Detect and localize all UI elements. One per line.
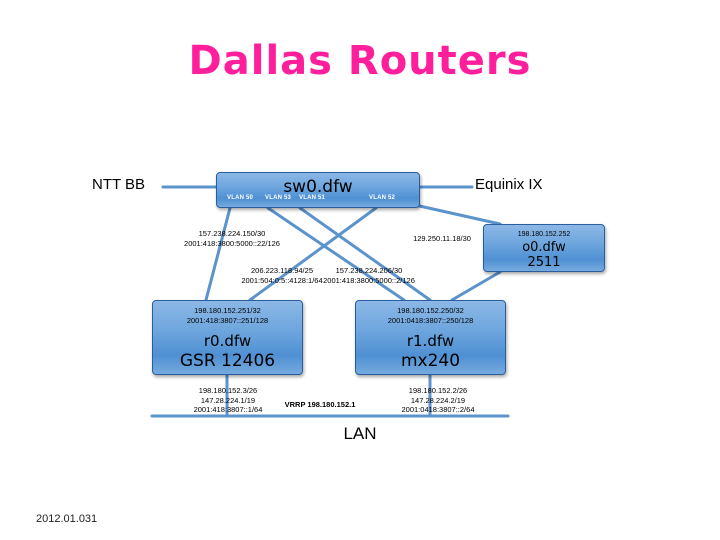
link-vlan50-r0: [206, 208, 230, 300]
vlan-label-51: VLAN 51: [299, 195, 325, 201]
r0-model: GSR 12406: [153, 351, 302, 371]
label-ntt-bb: NTT BB: [92, 176, 145, 193]
ntt-uplink-ipv4: 157.238.224.150/30: [158, 229, 306, 239]
o0-model: 2511: [484, 255, 604, 270]
r1-ipv4: 198.180.152.250/32: [356, 306, 505, 316]
link-sw0-o0: [415, 205, 500, 224]
annotation-vlan53-link: 157.238.224.206/30 2001:418:3800:5000::2…: [312, 266, 426, 285]
sw0-vlan-row: VLAN 50 VLAN 53 VLAN 51 VLAN 52: [217, 195, 419, 206]
lan-right-ipv4-2: 147.28.224.2/19: [368, 396, 508, 406]
slide-footer-date: 2012.01.031: [36, 513, 97, 525]
r1-ipv6: 2001:0418:3807::250/128: [356, 316, 505, 326]
node-o0-dfw[interactable]: 198.180.152.252 o0.dfw 2511: [483, 224, 605, 272]
r0-ipv4: 198.180.152.251/32: [153, 306, 302, 316]
link-vlan53-r1: [268, 208, 404, 300]
vlan53-link-ipv6: 2001:418:3800:5000::2/126: [312, 276, 426, 286]
annotation-ntt-uplink: 157.238.224.150/30 2001:418:3800:5000::2…: [158, 229, 306, 248]
o0-ip: 198.180.152.252: [484, 225, 604, 240]
link-o0-r1: [452, 272, 500, 300]
link-vlan52-r0: [250, 208, 376, 300]
node-r0-dfw[interactable]: 198.180.152.251/32 2001:418:3807::251/12…: [152, 300, 303, 375]
r0-ip-block: 198.180.152.251/32 2001:418:3807::251/12…: [153, 301, 302, 326]
vlan-label-50: VLAN 50: [227, 195, 253, 201]
annotation-lan-right: 198.180.152.2/26 147.28.224.2/19 2001:04…: [368, 386, 508, 415]
node-r1-dfw[interactable]: 198.180.152.250/32 2001:0418:3807::250/1…: [355, 300, 506, 375]
label-lan: LAN: [0, 424, 720, 444]
r1-model: mx240: [356, 351, 505, 371]
link-vlan51-r1: [300, 208, 430, 300]
o0-name: o0.dfw: [484, 240, 604, 255]
r0-ipv6: 2001:418:3807::251/128: [153, 316, 302, 326]
node-sw0-dfw[interactable]: sw0.dfw VLAN 50 VLAN 53 VLAN 51 VLAN 52: [216, 172, 420, 208]
lan-right-ipv6: 2001:0418:3807::2/64: [368, 405, 508, 415]
label-equinix-ix: Equinix IX: [475, 176, 543, 193]
lan-right-ipv4-1: 198.180.152.2/26: [368, 386, 508, 396]
slide-canvas: Dallas Routers NTT B: [0, 0, 720, 540]
r1-name: r1.dfw: [356, 326, 505, 351]
ntt-uplink-ipv6: 2001:418:3800:5000::22/126: [158, 239, 306, 249]
annotation-vrrp: VRRP 198.180.152.1: [258, 400, 382, 410]
r1-ip-block: 198.180.152.250/32 2001:0418:3807::250/1…: [356, 301, 505, 326]
lan-left-ipv4-1: 198.180.152.3/26: [158, 386, 298, 396]
vlan-label-53: VLAN 53: [265, 195, 291, 201]
vlan-label-52: VLAN 52: [369, 195, 395, 201]
annotation-ntt-second: 129.250.11.18/30: [392, 234, 492, 244]
r0-name: r0.dfw: [153, 326, 302, 351]
ntt-second-ipv4: 129.250.11.18/30: [392, 234, 492, 244]
vlan53-link-ipv4: 157.238.224.206/30: [312, 266, 426, 276]
